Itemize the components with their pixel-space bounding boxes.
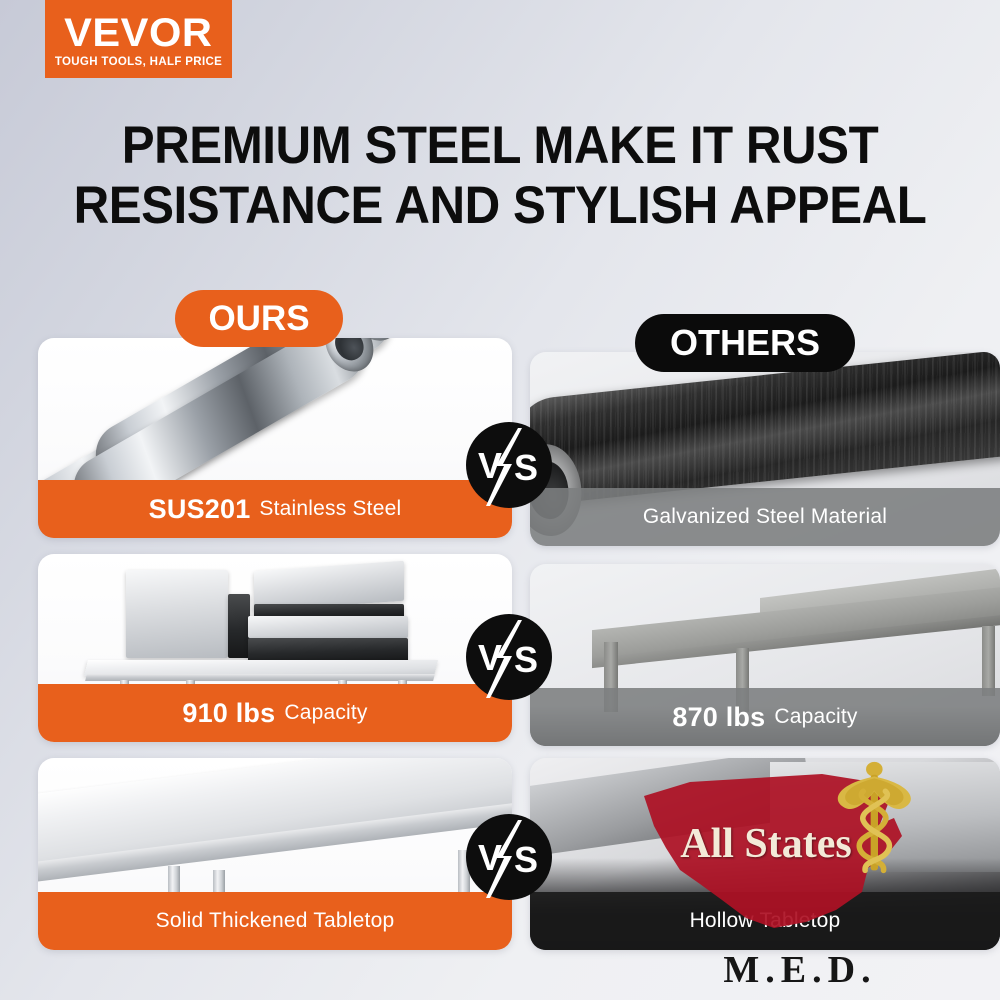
others-capacity-value: 870 lbs bbox=[672, 702, 765, 733]
others-card-tabletop: Hollow Tabletop bbox=[530, 758, 1000, 950]
badge-others: OTHERS bbox=[635, 314, 855, 372]
watermark-footer-text: M.E.D. bbox=[600, 948, 1000, 992]
others-card-capacity: 870 lbs Capacity bbox=[530, 564, 1000, 746]
page-title: PREMIUM STEEL MAKE IT RUST RESISTANCE AN… bbox=[35, 116, 965, 236]
badge-others-label: OTHERS bbox=[670, 322, 820, 364]
vevor-logo: VEVOR TOUGH TOOLS, HALF PRICE bbox=[45, 0, 232, 78]
ours-label-material: SUS201 Stainless Steel bbox=[38, 480, 512, 538]
vs-badge-2: V S bbox=[466, 614, 552, 700]
brand-tagline: TOUGH TOOLS, HALF PRICE bbox=[55, 56, 222, 68]
ours-label-tabletop: Solid Thickened Tabletop bbox=[38, 892, 512, 950]
vs-icon: V S bbox=[466, 422, 552, 508]
ours-capacity-value: 910 lbs bbox=[182, 698, 275, 729]
ours-capacity-text: Capacity bbox=[284, 701, 367, 725]
ours-card-capacity: 910 lbs Capacity bbox=[38, 554, 512, 742]
vs-icon: V S bbox=[466, 814, 552, 900]
others-card-material: Galvanized Steel Material bbox=[530, 352, 1000, 546]
ours-tabletop-text: Solid Thickened Tabletop bbox=[156, 909, 395, 933]
ours-card-material: SUS201 Stainless Steel bbox=[38, 338, 512, 538]
svg-text:V: V bbox=[478, 637, 502, 678]
vs-icon: V S bbox=[466, 614, 552, 700]
headline-line-2: RESISTANCE AND STYLISH APPEAL bbox=[35, 176, 965, 236]
brand-name: VEVOR bbox=[64, 14, 212, 52]
ours-label-capacity: 910 lbs Capacity bbox=[38, 684, 512, 742]
others-label-tabletop: Hollow Tabletop bbox=[530, 892, 1000, 950]
svg-text:S: S bbox=[514, 639, 538, 680]
vs-badge-1: V S bbox=[466, 422, 552, 508]
ours-material-text: Stainless Steel bbox=[259, 497, 401, 521]
svg-text:S: S bbox=[514, 447, 538, 488]
badge-ours-label: OURS bbox=[208, 299, 309, 339]
ours-card-tabletop: Solid Thickened Tabletop bbox=[38, 758, 512, 950]
others-capacity-text: Capacity bbox=[774, 705, 857, 729]
svg-text:V: V bbox=[478, 837, 502, 878]
headline-line-1: PREMIUM STEEL MAKE IT RUST bbox=[35, 116, 965, 176]
badge-ours: OURS bbox=[175, 290, 343, 347]
svg-text:V: V bbox=[478, 445, 502, 486]
others-material-text: Galvanized Steel Material bbox=[643, 505, 887, 529]
vs-badge-3: V S bbox=[466, 814, 552, 900]
svg-text:S: S bbox=[514, 839, 538, 880]
others-tabletop-text: Hollow Tabletop bbox=[690, 909, 841, 933]
others-label-material: Galvanized Steel Material bbox=[530, 488, 1000, 546]
others-label-capacity: 870 lbs Capacity bbox=[530, 688, 1000, 746]
ours-material-value: SUS201 bbox=[149, 494, 251, 525]
